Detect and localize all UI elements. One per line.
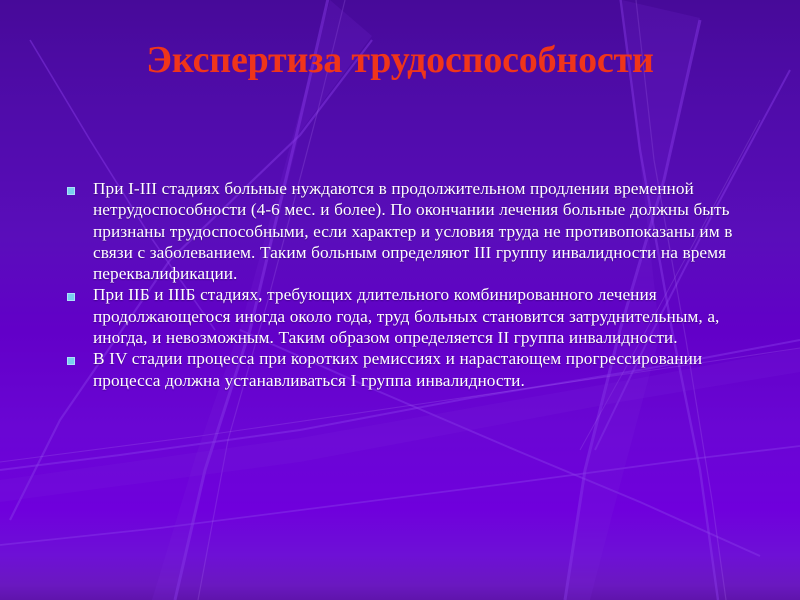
title-block: Экспертиза трудоспособности [0,36,800,84]
list-item-text: При IIБ и IIIБ стадиях, требующих длител… [93,284,770,348]
list-item-text: При I-III стадиях больные нуждаются в пр… [93,178,770,284]
square-bullet-icon [67,293,75,301]
page-title: Экспертиза трудоспособности [146,36,653,84]
square-bullet-icon [67,187,75,195]
square-bullet-icon [67,357,75,365]
presentation-slide: Экспертиза трудоспособности При I-III ст… [0,0,800,600]
list-item: При IIБ и IIIБ стадиях, требующих длител… [58,284,770,348]
list-item: При I-III стадиях больные нуждаются в пр… [58,178,770,284]
list-item-text: В IV стадии процесса при коротких ремисс… [93,348,770,391]
list-item: В IV стадии процесса при коротких ремисс… [58,348,770,391]
content-body: При I-III стадиях больные нуждаются в пр… [58,178,770,391]
